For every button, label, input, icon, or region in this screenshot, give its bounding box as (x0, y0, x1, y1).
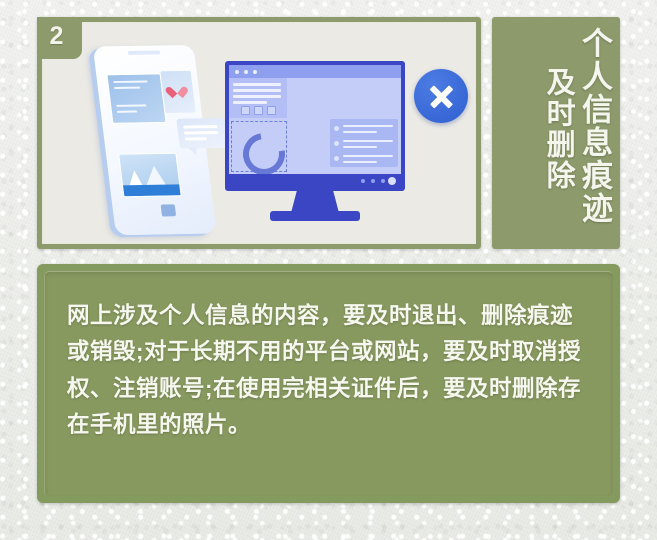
list-panel (330, 119, 398, 167)
body-paragraph: 网上涉及个人信息的内容，要及时退出、删除痕迹或销毁;对于长期不用的平台或网站，要… (67, 298, 591, 444)
monitor-stand-base (270, 211, 360, 221)
phone-home-button (161, 204, 177, 216)
toolbar-share-icon (267, 106, 276, 115)
toolbar-square-icon (241, 106, 250, 115)
illustration-canvas (42, 22, 476, 244)
smartphone-illustration (79, 45, 233, 241)
chat-bubble-icon (176, 118, 228, 149)
landscape-photo-card-icon (118, 153, 182, 198)
progress-ring-icon (235, 125, 293, 175)
heart-icon (170, 85, 185, 97)
illustration-panel: 2 (37, 17, 481, 249)
sidebar-panel (229, 78, 287, 118)
title-column-right: 个人信息痕迹 (577, 27, 610, 225)
monitor-screen (225, 61, 405, 191)
toolbar-square-icon (254, 106, 263, 115)
body-text-inner: 网上涉及个人信息的内容，要及时退出、删除痕迹或销毁;对于长期不用的平台或网站，要… (44, 271, 613, 496)
monitor-chin-bar (229, 174, 401, 187)
dashed-selection-box (231, 121, 287, 172)
body-text-panel: 网上涉及个人信息的内容，要及时退出、删除痕迹或销毁;对于长期不用的平台或网站，要… (37, 264, 620, 503)
monitor-stand-neck (291, 191, 339, 213)
vertical-title-panel: 个人信息痕迹 及时删除 (492, 17, 620, 249)
step-number-badge: 2 (37, 17, 82, 59)
photo-card-icon (106, 73, 166, 124)
heart-photo-card-icon (160, 71, 195, 113)
browser-titlebar (229, 65, 401, 78)
phone-speaker (128, 50, 161, 55)
title-column-left: 及时删除 (542, 67, 573, 191)
screen-content (229, 65, 401, 175)
phone-body (93, 45, 217, 235)
close-icon[interactable] (414, 69, 468, 123)
desktop-monitor-illustration (225, 61, 405, 231)
